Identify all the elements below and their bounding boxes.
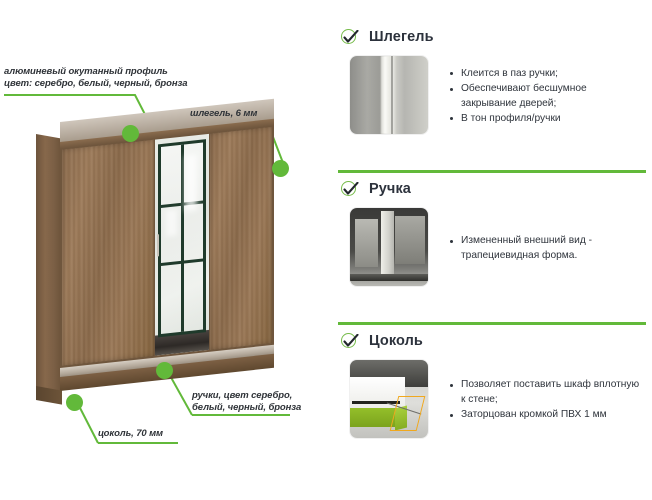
mirror-highlight [166, 209, 177, 236]
cokol-photo [350, 360, 428, 438]
list-item: Измененный внешний вид - трапециевидная … [450, 234, 644, 263]
feature-section-shlegel: Шлегель Клеится в паз ручки; Обеспечиваю… [332, 24, 652, 134]
section-title-cokol: Цоколь [369, 333, 423, 349]
check-circle-icon [340, 27, 360, 47]
annotation-ruchki: ручки, цвет серебро, белый, черный, брон… [192, 390, 301, 414]
section-body: Позволяет поставить шкаф вплотную к стен… [332, 360, 652, 438]
marker-dot-shlegel [272, 160, 289, 177]
annotation-profile: алюминевый окутанный профиль цвет: сереб… [4, 66, 187, 90]
wardrobe-door-left [62, 140, 154, 366]
wardrobe-mirror-panel [155, 134, 209, 356]
list-item: Обеспечивают бесшумное закрывание дверей… [450, 82, 644, 111]
cabinet-gap [352, 401, 400, 404]
brush-seal-strip [381, 56, 391, 134]
marker-dot-profile [122, 125, 139, 142]
annotation-shlegel: шлегель, 6 мм [190, 108, 257, 120]
check-circle-icon [340, 179, 360, 199]
wardrobe-illustration-panel: алюминевый окутанный профиль цвет: сереб… [0, 0, 330, 500]
check-circle-icon [340, 331, 360, 351]
section-header: Цоколь [332, 328, 652, 354]
annotation-profile-line2: цвет: серебро, белый, черный, бронза [4, 78, 187, 90]
marker-dot-ruchki [156, 362, 173, 379]
wardrobe-door-right [210, 127, 272, 350]
mirror-rail [161, 258, 203, 266]
profile-seam [391, 56, 393, 134]
bullet-list-cokol: Позволяет поставить шкаф вплотную к стен… [428, 378, 652, 423]
door-handle [157, 234, 159, 256]
section-body: Клеится в паз ручки; Обеспечивают бесшум… [332, 56, 652, 134]
marker-dot-cokol [66, 394, 83, 411]
list-item: Позволяет поставить шкаф вплотную к стен… [450, 378, 644, 407]
infographic-page: алюминевый окутанный профиль цвет: сереб… [0, 0, 652, 500]
door-panel-left [355, 219, 378, 267]
section-divider [338, 170, 646, 173]
bullet-list-shlegel: Клеится в паз ручки; Обеспечивают бесшум… [428, 67, 652, 128]
check-mark-icon [342, 182, 359, 197]
section-header: Шлегель [332, 24, 652, 50]
bullet-list-ruchka: Измененный внешний вид - трапециевидная … [428, 234, 652, 264]
check-mark-icon [342, 334, 359, 349]
door-panel-right [395, 216, 425, 264]
wardrobe-body [60, 123, 274, 372]
section-title-ruchka: Ручка [369, 181, 411, 197]
bottom-rail [350, 274, 428, 281]
wardrobe-side-panel [36, 134, 62, 397]
feature-section-ruchka: Ручка Измененный внешний вид - трапециев… [332, 176, 652, 286]
check-mark-icon [342, 30, 359, 45]
list-item: В тон профиля/ручки [450, 112, 644, 126]
annotation-cokol: цоколь, 70 мм [98, 428, 163, 440]
section-divider [338, 322, 646, 325]
ruchka-photo [350, 208, 428, 286]
section-title-shlegel: Шлегель [369, 29, 434, 45]
annotation-profile-line1: алюминевый окутанный профиль [4, 66, 187, 78]
features-panel: Шлегель Клеится в паз ручки; Обеспечиваю… [332, 0, 652, 500]
mirror-window-frame [158, 139, 206, 337]
handle-profile [381, 211, 393, 277]
annotation-shlegel-line1: шлегель, 6 мм [190, 108, 257, 120]
annotation-cokol-line1: цоколь, 70 мм [98, 428, 163, 440]
section-body: Измененный внешний вид - трапециевидная … [332, 208, 652, 286]
section-header: Ручка [332, 176, 652, 202]
mirror-highlight [185, 154, 198, 211]
shlegel-photo [350, 56, 428, 134]
list-item: Клеится в паз ручки; [450, 67, 644, 81]
list-item: Заторцован кромкой ПВХ 1 мм [450, 408, 644, 422]
feature-section-cokol: Цоколь Позволяет поставить шкаф вплотную… [332, 328, 652, 438]
annotation-ruchki-line2: белый, черный, бронза [192, 402, 301, 414]
annotation-ruchki-line1: ручки, цвет серебро, [192, 390, 301, 402]
